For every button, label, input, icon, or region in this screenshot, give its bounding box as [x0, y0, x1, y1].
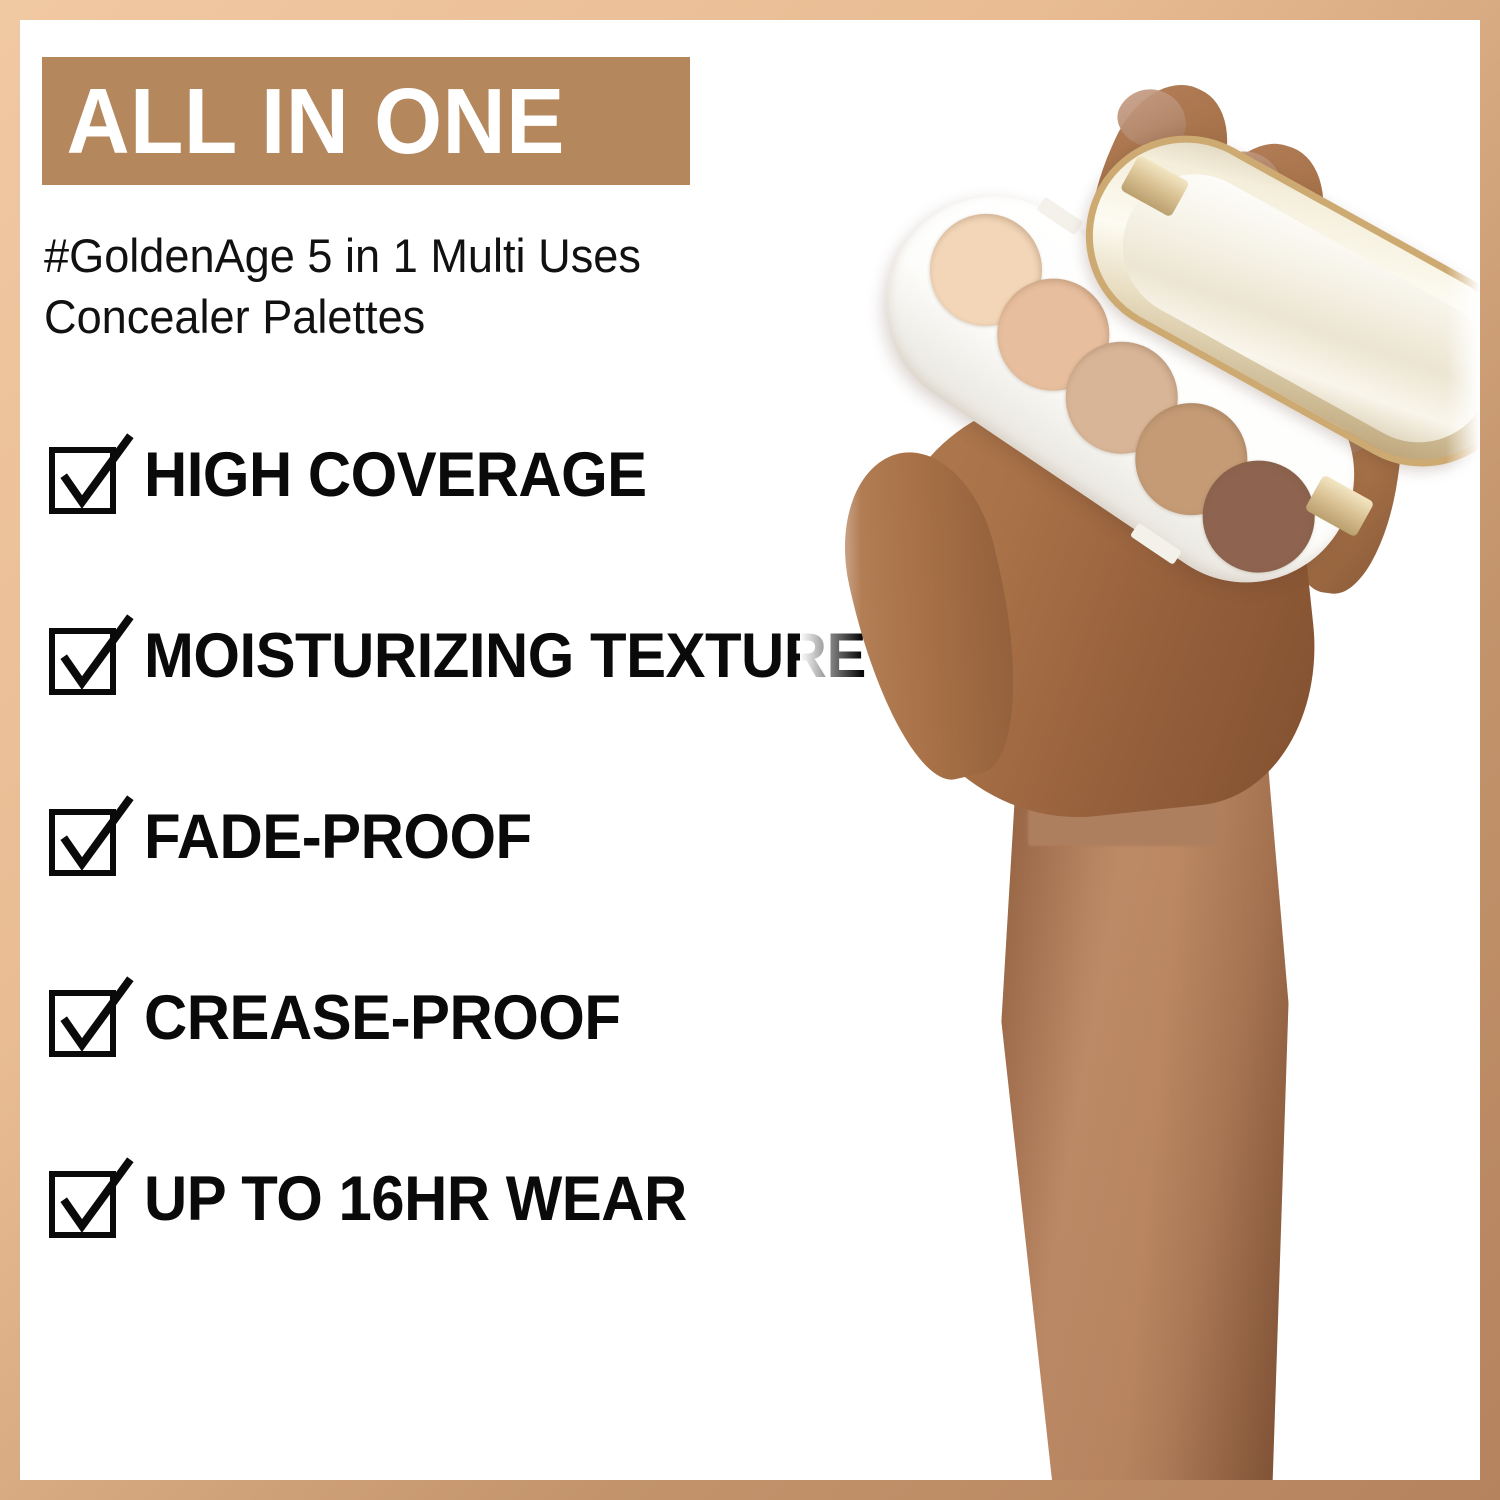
- feature-item-crease-proof: CREASE-PROOF: [46, 961, 836, 1142]
- feature-item-fade-proof: FADE-PROOF: [46, 780, 836, 961]
- subtitle-line-2: Concealer Palettes: [44, 286, 774, 347]
- feature-item-moisturizing-texture: MOISTURIZING TEXTURE: [46, 599, 836, 780]
- infographic-canvas: ALL IN ONE #GoldenAge 5 in 1 Multi Uses …: [20, 20, 1480, 1480]
- feature-label: CREASE-PROOF: [144, 987, 620, 1050]
- feature-label: HIGH COVERAGE: [144, 444, 647, 507]
- feature-item-16hr-wear: UP TO 16HR WEAR: [46, 1142, 836, 1323]
- feature-item-high-coverage: HIGH COVERAGE: [46, 418, 836, 599]
- product-infographic-frame: ALL IN ONE #GoldenAge 5 in 1 Multi Uses …: [0, 0, 1500, 1500]
- checkbox-checked-icon: [46, 613, 138, 705]
- feature-label: UP TO 16HR WEAR: [144, 1168, 687, 1231]
- product-subtitle: #GoldenAge 5 in 1 Multi Uses Concealer P…: [44, 225, 774, 347]
- subtitle-line-1: #GoldenAge 5 in 1 Multi Uses: [44, 225, 774, 286]
- feature-label: MOISTURIZING TEXTURE: [144, 625, 866, 688]
- product-photo: [800, 20, 1480, 1480]
- checkbox-checked-icon: [46, 432, 138, 524]
- headline-text: ALL IN ONE: [42, 75, 565, 168]
- headline-banner: ALL IN ONE: [42, 57, 690, 185]
- feature-list: HIGH COVERAGE MOISTURIZING TEXTURE: [46, 418, 836, 1323]
- text-column: ALL IN ONE #GoldenAge 5 in 1 Multi Uses …: [20, 20, 840, 1480]
- checkbox-checked-icon: [46, 975, 138, 1067]
- checkbox-checked-icon: [46, 1156, 138, 1248]
- feature-label: FADE-PROOF: [144, 806, 532, 869]
- checkbox-checked-icon: [46, 794, 138, 886]
